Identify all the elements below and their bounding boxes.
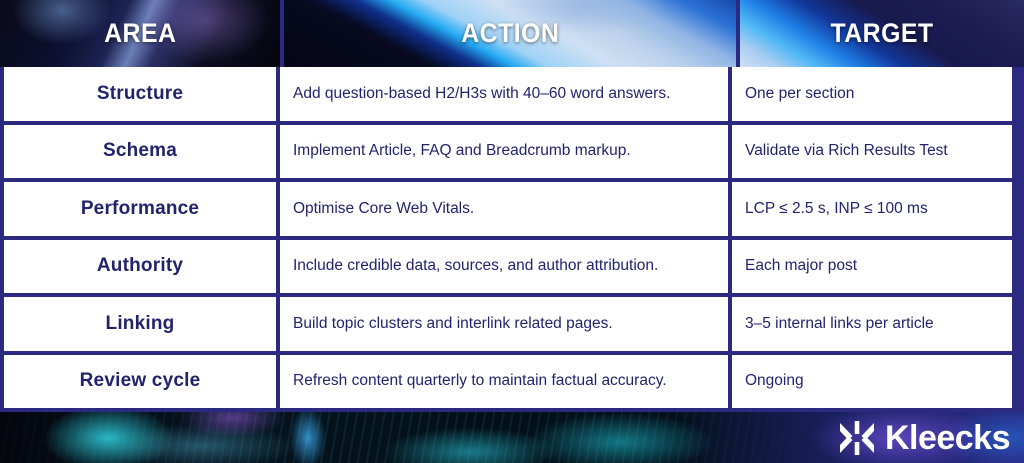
brand-name: Kleecks [885,421,1010,455]
cell-area: Structure [0,67,280,121]
table-row: Performance Optimise Core Web Vitals. LC… [0,182,1024,240]
column-header-target: TARGET [736,0,1024,67]
cell-target: Each major post [732,240,1016,294]
table-row: Linking Build topic clusters and interli… [0,297,1024,355]
cell-target: Validate via Rich Results Test [732,125,1016,179]
comparison-table-infographic: AREA ACTION TARGET Structure Add questio… [0,0,1024,463]
cell-area: Performance [0,182,280,236]
cell-area: Schema [0,125,280,179]
cell-action: Implement Article, FAQ and Breadcrumb ma… [280,125,732,179]
cell-area: Review cycle [0,355,280,409]
column-header-action: ACTION [280,0,736,67]
column-header-area-label: AREA [104,18,176,49]
table-row: Schema Implement Article, FAQ and Breadc… [0,125,1024,183]
footer-banner: Kleecks [0,408,1024,463]
kleecks-x-logo-icon [838,419,876,457]
cell-target: Ongoing [732,355,1016,409]
cell-action: Include credible data, sources, and auth… [280,240,732,294]
table-header-row: AREA ACTION TARGET [0,0,1024,67]
table-row: Structure Add question-based H2/H3s with… [0,67,1024,125]
column-header-action-label: ACTION [461,18,559,49]
brand-lockup: Kleecks [838,412,1010,463]
cell-target: 3–5 internal links per article [732,297,1016,351]
cell-action: Add question-based H2/H3s with 40–60 wor… [280,67,732,121]
cell-area: Linking [0,297,280,351]
cell-target: LCP ≤ 2.5 s, INP ≤ 100 ms [732,182,1016,236]
table-row: Authority Include credible data, sources… [0,240,1024,298]
cell-action: Optimise Core Web Vitals. [280,182,732,236]
cell-action: Build topic clusters and interlink relat… [280,297,732,351]
cell-area: Authority [0,240,280,294]
cell-action: Refresh content quarterly to maintain fa… [280,355,732,409]
column-header-area: AREA [0,0,280,67]
cell-target: One per section [732,67,1016,121]
table-row: Review cycle Refresh content quarterly t… [0,355,1024,409]
column-header-target-label: TARGET [830,18,933,49]
table-body: Structure Add question-based H2/H3s with… [0,67,1024,408]
